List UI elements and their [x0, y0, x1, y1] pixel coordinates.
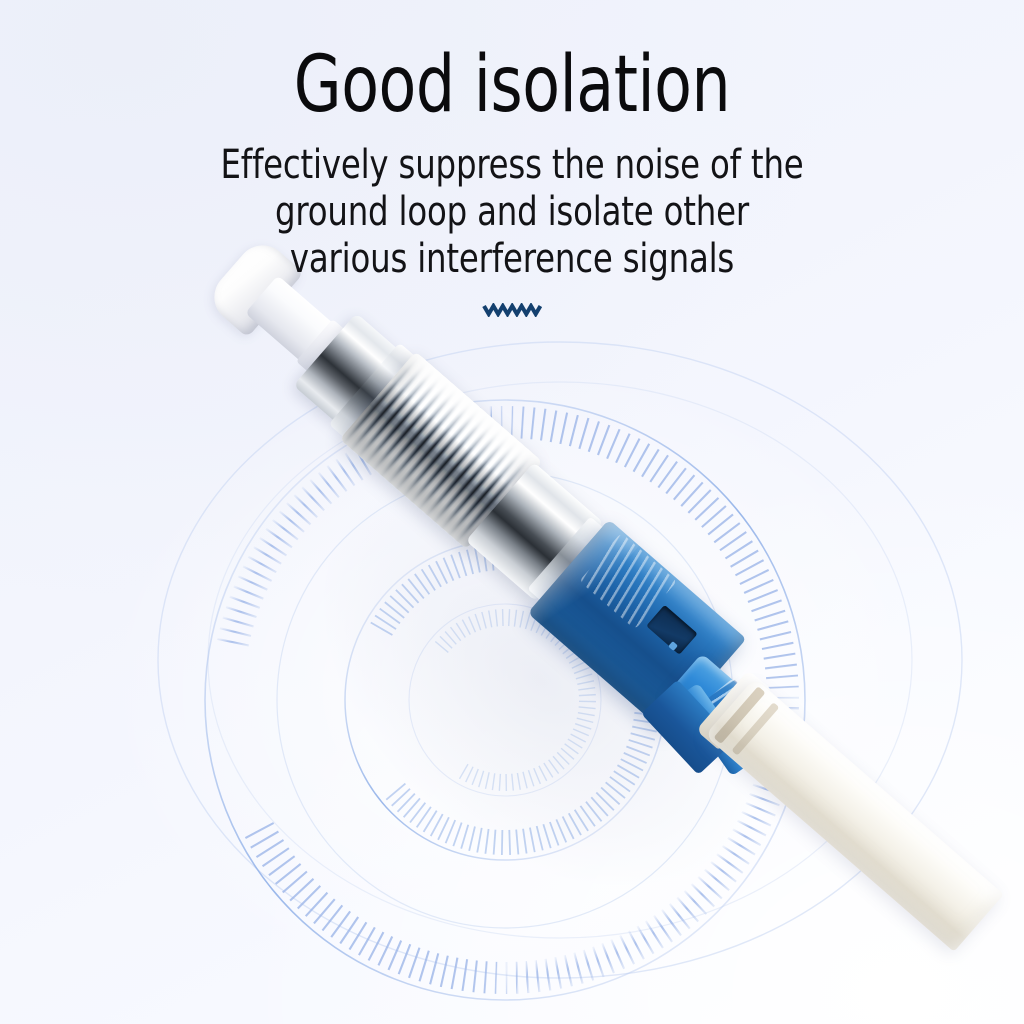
cable-ring-mark-1 [713, 686, 765, 744]
promo-banner: Good isolation Effectively suppress the … [0, 0, 1024, 1024]
cable-ring-mark-2 [731, 702, 779, 756]
lc-body-port-window [646, 605, 698, 655]
latch-pivot-hole [683, 670, 735, 722]
lc-body-lower-skirt [641, 679, 735, 775]
chrome-sleeve [466, 462, 604, 601]
latch-grip-ridges [702, 678, 766, 744]
lc-port-inner-dot [668, 641, 678, 651]
chrome-ferrule-barrel [293, 313, 413, 435]
blue-lc-connector-body [528, 519, 747, 732]
product-drop-shadow [71, 217, 1008, 1024]
chrome-sleeve-end-ring [527, 516, 607, 603]
latch-release-arm [677, 683, 753, 777]
lc-body-grip-ribs [579, 533, 677, 630]
zigzag-wave-divider-icon [482, 303, 542, 317]
subtitle-line-2: ground loop and isolate other [51, 189, 973, 236]
white-dust-cap-shoulder [296, 319, 355, 381]
cable-strain-relief-boot [696, 670, 771, 750]
divider-wrap [0, 303, 1024, 317]
chrome-collar-ring [329, 343, 419, 442]
page-subtitle: Effectively suppress the noise of the gr… [51, 124, 973, 283]
subtitle-line-3: various interference signals [51, 236, 973, 283]
page-title: Good isolation [61, 0, 962, 124]
lc-body-bevel-highlight [528, 519, 640, 639]
blue-latch-clip-base [664, 653, 767, 753]
headline-block: Good isolation Effectively suppress the … [0, 0, 1024, 317]
subtitle-line-1: Effectively suppress the noise of the [51, 142, 973, 189]
knurled-metal-grip [340, 351, 543, 549]
white-fiber-cable [705, 678, 1004, 952]
knurled-grip-shading [340, 351, 543, 549]
